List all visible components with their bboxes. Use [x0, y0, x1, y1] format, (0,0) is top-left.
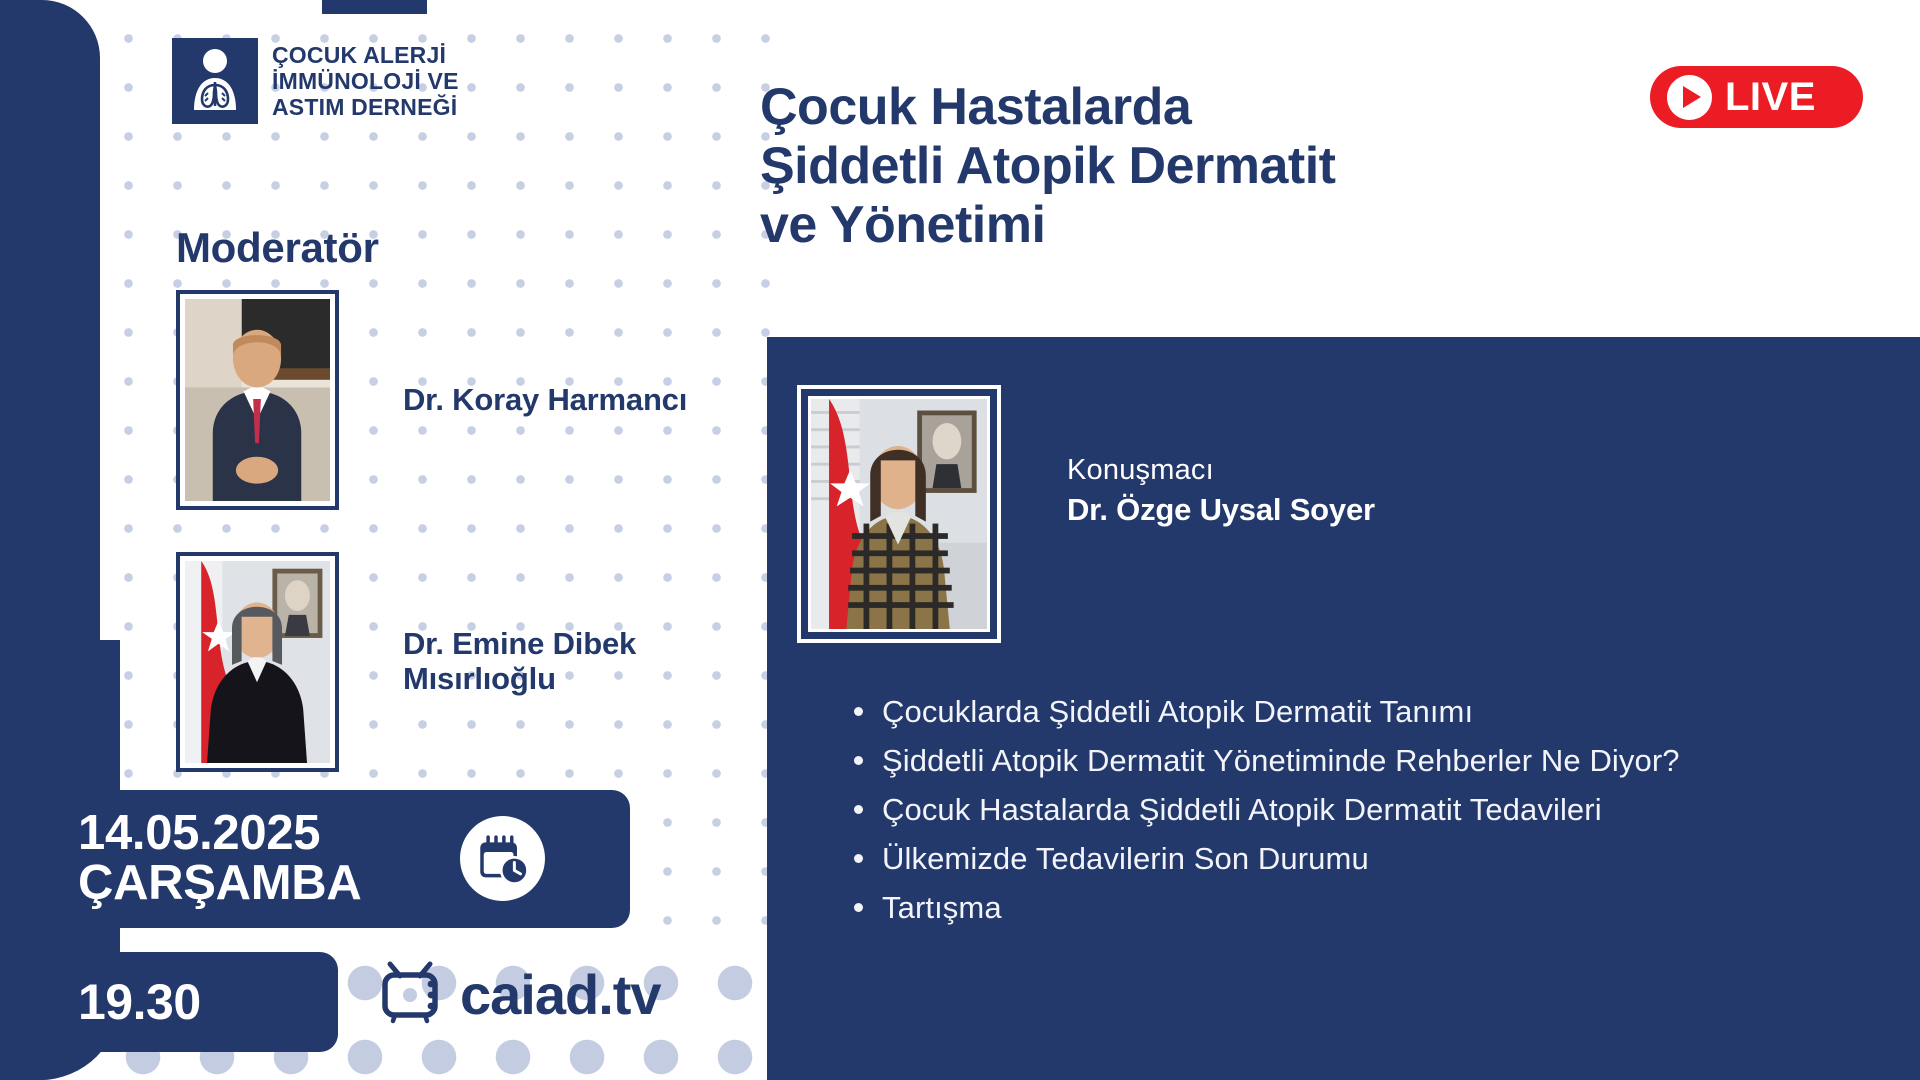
speaker-photo	[808, 396, 990, 632]
moderator-1-photo-frame	[176, 290, 339, 510]
live-badge[interactable]: LIVE	[1650, 66, 1863, 128]
moderator-2-name: Dr. Emine Dibek Mısırlıoğlu	[403, 627, 703, 696]
channel-name: caiad.tv	[460, 962, 661, 1027]
page-title: Çocuk Hastalarda Şiddetli Atopik Dermati…	[760, 78, 1690, 254]
time-chip: 19.30	[0, 952, 338, 1052]
event-time: 19.30	[78, 973, 201, 1031]
list-item: Çocuklarda Şiddetli Atopik Dermatit Tanı…	[842, 692, 1872, 733]
speaker-name: Dr. Özge Uysal Soyer	[1067, 490, 1375, 530]
speaker-photo-frame	[797, 385, 1001, 643]
lungs-person-icon	[172, 38, 258, 124]
live-label: LIVE	[1725, 75, 1816, 120]
moderator-1-name: Dr. Koray Harmancı	[403, 383, 687, 418]
moderator-section-label: Moderatör	[176, 224, 379, 272]
moderator-2: Dr. Emine Dibek Mısırlıoğlu	[176, 552, 703, 772]
topic-list: Çocuklarda Şiddetli Atopik Dermatit Tanı…	[842, 692, 1872, 937]
moderator-2-photo-frame	[176, 552, 339, 772]
top-navy-chip	[322, 0, 427, 14]
event-date: 14.05.2025 ÇARŞAMBA	[78, 809, 361, 909]
list-item: Şiddetli Atopik Dermatit Yönetiminde Reh…	[842, 741, 1872, 782]
list-item: Çocuk Hastalarda Şiddetli Atopik Dermati…	[842, 790, 1872, 831]
speaker-panel: Konuşmacı Dr. Özge Uysal Soyer Çocuklard…	[767, 337, 1920, 1080]
poster-canvas: ÇOCUK ALERJİ İMMÜNOLOJİ VE ASTIM DERNEĞİ…	[0, 0, 1920, 1080]
moderator-1-photo	[185, 299, 330, 501]
list-item: Tartışma	[842, 888, 1872, 929]
channel-row[interactable]: caiad.tv	[380, 960, 661, 1029]
speaker-meta: Konuşmacı Dr. Özge Uysal Soyer	[1067, 452, 1375, 530]
moderator-1: Dr. Koray Harmancı	[176, 290, 687, 510]
date-chip: 14.05.2025 ÇARŞAMBA	[0, 790, 630, 928]
play-icon	[1667, 75, 1712, 120]
calendar-clock-icon	[460, 816, 545, 901]
moderator-2-photo	[185, 561, 330, 763]
organization-name: ÇOCUK ALERJİ İMMÜNOLOJİ VE ASTIM DERNEĞİ	[272, 42, 459, 120]
television-icon	[380, 960, 452, 1029]
organization-logo: ÇOCUK ALERJİ İMMÜNOLOJİ VE ASTIM DERNEĞİ	[172, 38, 459, 124]
list-item: Ülkemizde Tedavilerin Son Durumu	[842, 839, 1872, 880]
speaker-role-label: Konuşmacı	[1067, 452, 1375, 490]
